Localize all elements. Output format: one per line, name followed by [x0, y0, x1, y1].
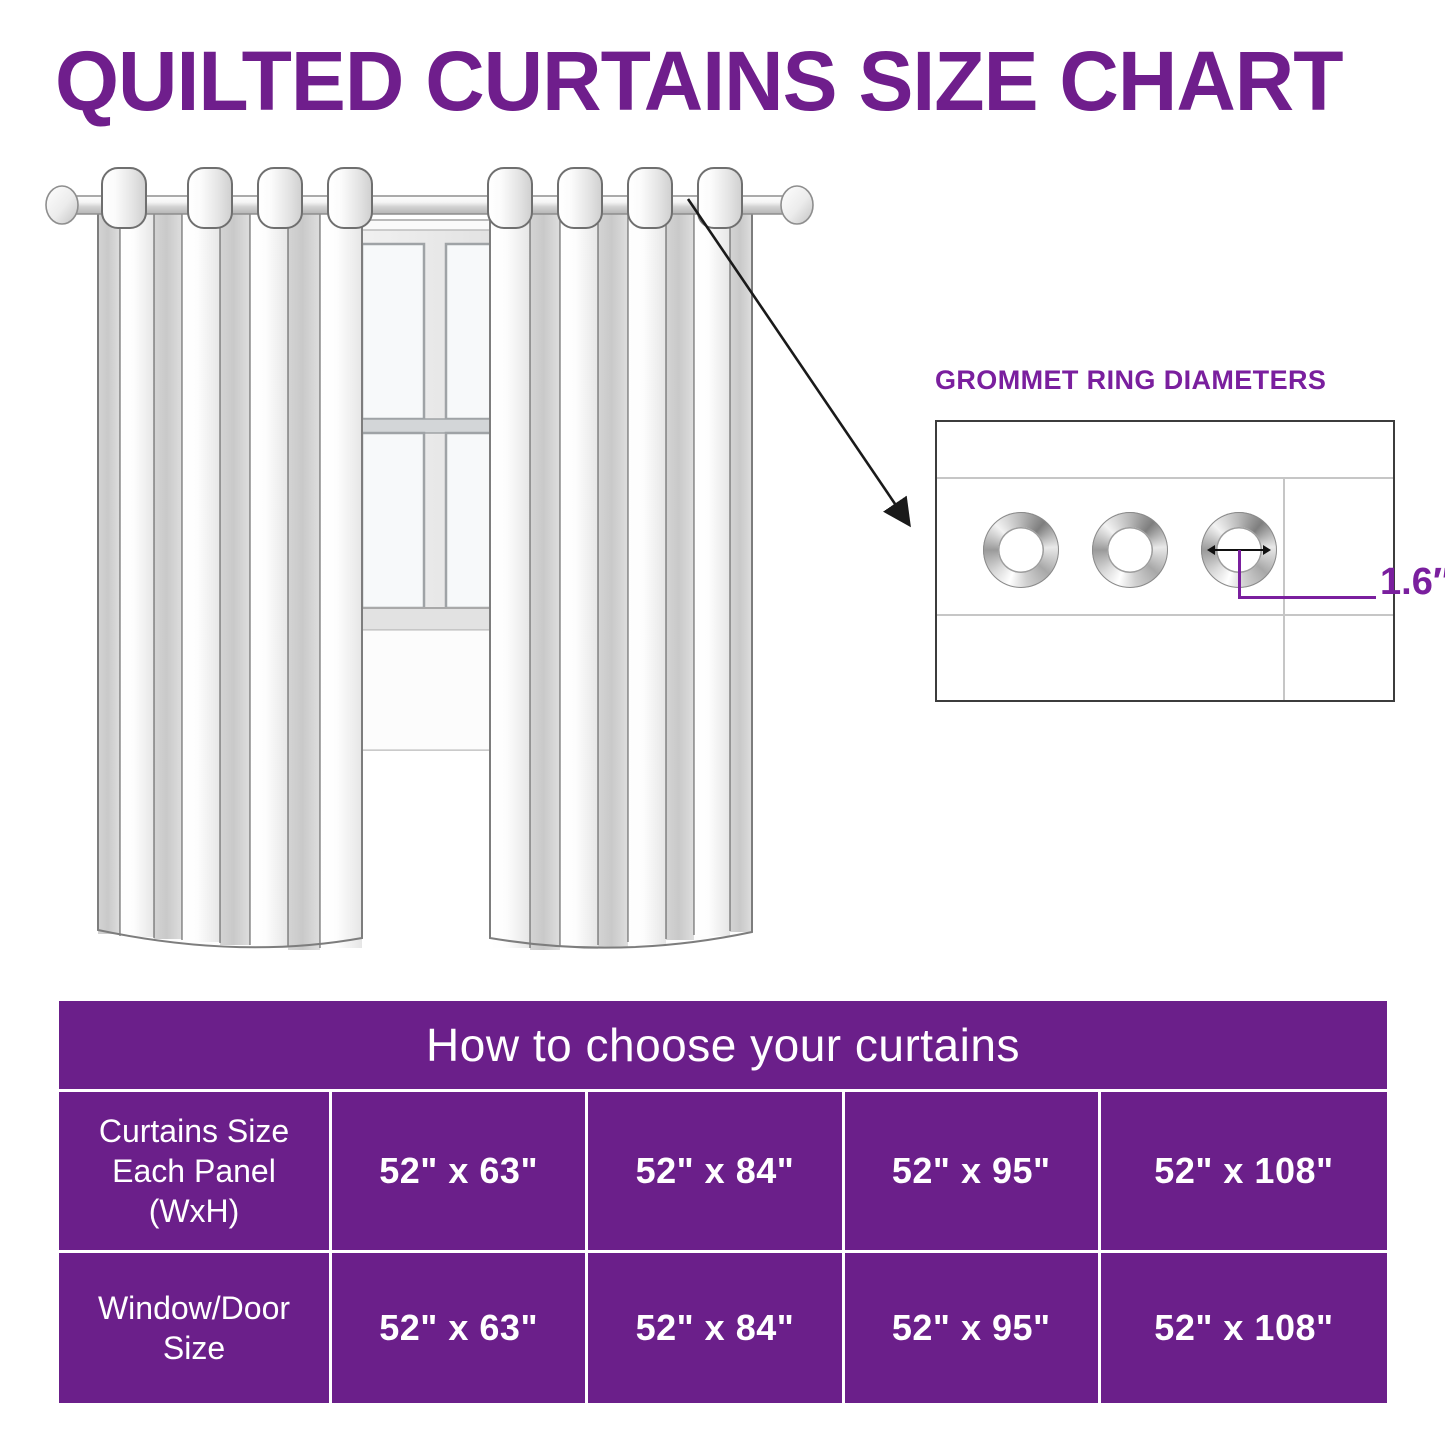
fabric-band-right-line: [1283, 477, 1285, 700]
table-cell: 52" x 84": [588, 1092, 841, 1250]
grommet-tab: [558, 168, 602, 228]
curtain-illustration: [40, 160, 820, 970]
grommet-detail-box: [935, 420, 1395, 702]
table-cell: 52" x 95": [845, 1092, 1098, 1250]
row-label-line: Size: [67, 1328, 321, 1368]
fabric-band-top-line: [937, 477, 1393, 479]
diameter-arrow-head-right: [1263, 545, 1271, 555]
table-row: Curtains Size Each Panel (WxH) 52" x 63"…: [59, 1092, 1387, 1250]
row-label-line: Window/Door: [67, 1288, 321, 1328]
grommet-diameter-label: 1.6″: [1380, 561, 1445, 604]
grommet-tab: [488, 168, 532, 228]
table-title-row: How to choose your curtains: [59, 1001, 1387, 1089]
table-cell: 52" x 95": [845, 1253, 1098, 1403]
row-label-line: (WxH): [67, 1191, 321, 1231]
rod-finial-right: [781, 186, 813, 224]
table-title: How to choose your curtains: [59, 1001, 1387, 1089]
grommet-detail-heading: GROMMET RING DIAMETERS: [935, 365, 1326, 396]
leader-line-vertical: [1238, 550, 1241, 598]
grommet-detail-panel: GROMMET RING DIAMETERS 1.6″: [920, 365, 1410, 705]
size-chart-page: QUILTED CURTAINS SIZE CHART: [0, 0, 1445, 1445]
grommet-tab: [628, 168, 672, 228]
row-label-line: Each Panel: [67, 1151, 321, 1191]
grommet-tab: [698, 168, 742, 228]
page-title: QUILTED CURTAINS SIZE CHART: [55, 36, 1378, 126]
diameter-arrow-head-left: [1207, 545, 1215, 555]
grommet-tab: [188, 168, 232, 228]
grommet-ring-2: [1092, 512, 1168, 588]
table-cell: 52" x 63": [332, 1253, 585, 1403]
curtain-panel-left: [98, 212, 362, 950]
rod-finial-left: [46, 186, 78, 224]
fabric-band-bottom-line: [937, 614, 1393, 616]
grommet-tab: [258, 168, 302, 228]
curtain-panel-right: [490, 212, 752, 950]
grommet-tab: [328, 168, 372, 228]
leader-line-horizontal: [1238, 596, 1376, 599]
row-label-window-door-size: Window/Door Size: [59, 1253, 329, 1403]
grommet-tab: [102, 168, 146, 228]
table-cell: 52" x 63": [332, 1092, 585, 1250]
table-cell: 52" x 108": [1101, 1092, 1387, 1250]
grommet-ring-1: [983, 512, 1059, 588]
table-row: Window/Door Size 52" x 63" 52" x 84" 52"…: [59, 1253, 1387, 1403]
table-cell: 52" x 108": [1101, 1253, 1387, 1403]
size-chart-table: How to choose your curtains Curtains Siz…: [56, 998, 1390, 1406]
table-cell: 52" x 84": [588, 1253, 841, 1403]
row-label-curtains-size: Curtains Size Each Panel (WxH): [59, 1092, 329, 1250]
row-label-line: Curtains Size: [67, 1111, 321, 1151]
